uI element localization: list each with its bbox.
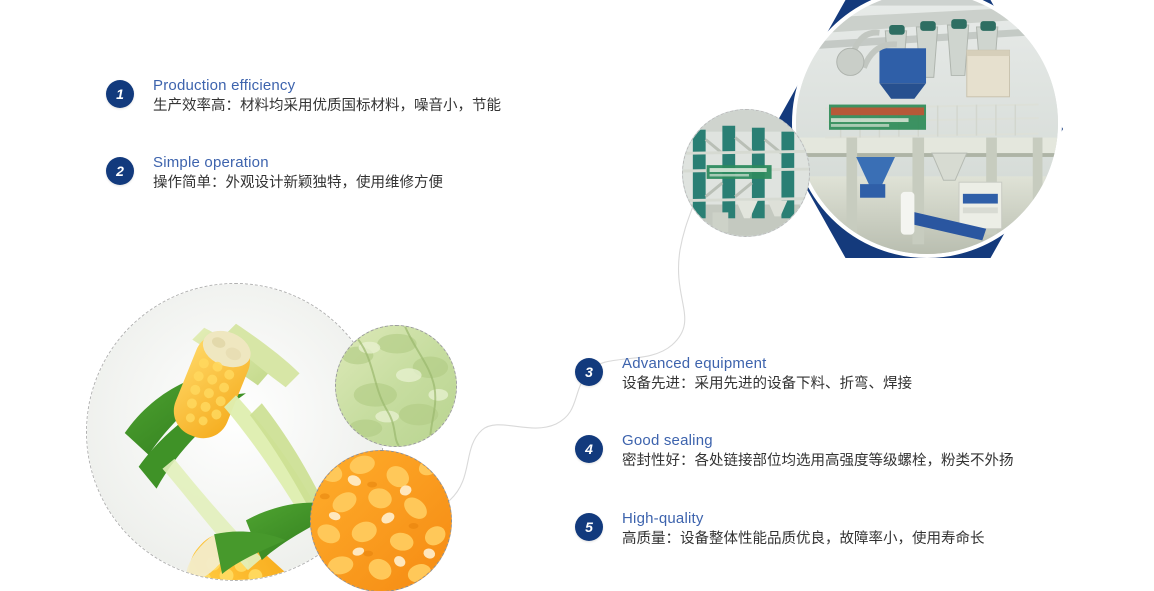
feature-text-block: Advanced equipment 设备先进：采用先进的设备下料、折弯、焊接 <box>622 354 912 395</box>
feature-number-badge: 2 <box>106 157 134 185</box>
feature-description: 生产效率高：材料均采用优质国标材料，噪音小，节能 <box>153 96 501 117</box>
feature-item-1[interactable]: 1 Production efficiency 生产效率高：材料均采用优质国标材… <box>106 80 501 117</box>
feature-text-block: Production efficiency 生产效率高：材料均采用优质国标材料，… <box>153 76 501 117</box>
feature-number-badge: 3 <box>575 358 603 386</box>
feature-text-block: High-quality 高质量：设备整体性能品质优良，故障率小，使用寿命长 <box>622 509 985 550</box>
feature-description: 操作简单：外观设计新颖独特，使用维修方便 <box>153 173 443 194</box>
feature-title: Production efficiency <box>153 76 501 95</box>
feature-item-3[interactable]: 3 Advanced equipment 设备先进：采用先进的设备下料、折弯、焊… <box>575 358 912 395</box>
feature-item-2[interactable]: 2 Simple operation 操作简单：外观设计新颖独特，使用维修方便 <box>106 157 443 194</box>
feature-item-5[interactable]: 5 High-quality 高质量：设备整体性能品质优良，故障率小，使用寿命长 <box>575 513 985 550</box>
feature-title: Advanced equipment <box>622 354 912 373</box>
feature-number-badge: 1 <box>106 80 134 108</box>
infographic-stage: 1 Production efficiency 生产效率高：材料均采用优质国标材… <box>0 0 1154 591</box>
factory-small-photo <box>682 109 810 237</box>
feature-item-4[interactable]: 4 Good sealing 密封性好：各处链接部位均选用高强度等级螺栓，粉类不… <box>575 435 1014 472</box>
feature-text-block: Good sealing 密封性好：各处链接部位均选用高强度等级螺栓，粉类不外扬 <box>622 431 1014 472</box>
feature-title: Good sealing <box>622 431 1014 450</box>
feature-description: 高质量：设备整体性能品质优良，故障率小，使用寿命长 <box>622 529 985 550</box>
feature-text-block: Simple operation 操作简单：外观设计新颖独特，使用维修方便 <box>153 153 443 194</box>
corn-green-photo <box>335 325 457 447</box>
factory-main-photo <box>792 0 1062 258</box>
corn-grits-photo <box>310 450 452 591</box>
feature-title: High-quality <box>622 509 985 528</box>
factory-image-group <box>660 0 1080 284</box>
feature-number-badge: 5 <box>575 513 603 541</box>
feature-title: Simple operation <box>153 153 443 172</box>
feature-number-badge: 4 <box>575 435 603 463</box>
corn-image-group <box>86 283 456 591</box>
feature-description: 密封性好：各处链接部位均选用高强度等级螺栓，粉类不外扬 <box>622 451 1014 472</box>
feature-description: 设备先进：采用先进的设备下料、折弯、焊接 <box>622 374 912 395</box>
